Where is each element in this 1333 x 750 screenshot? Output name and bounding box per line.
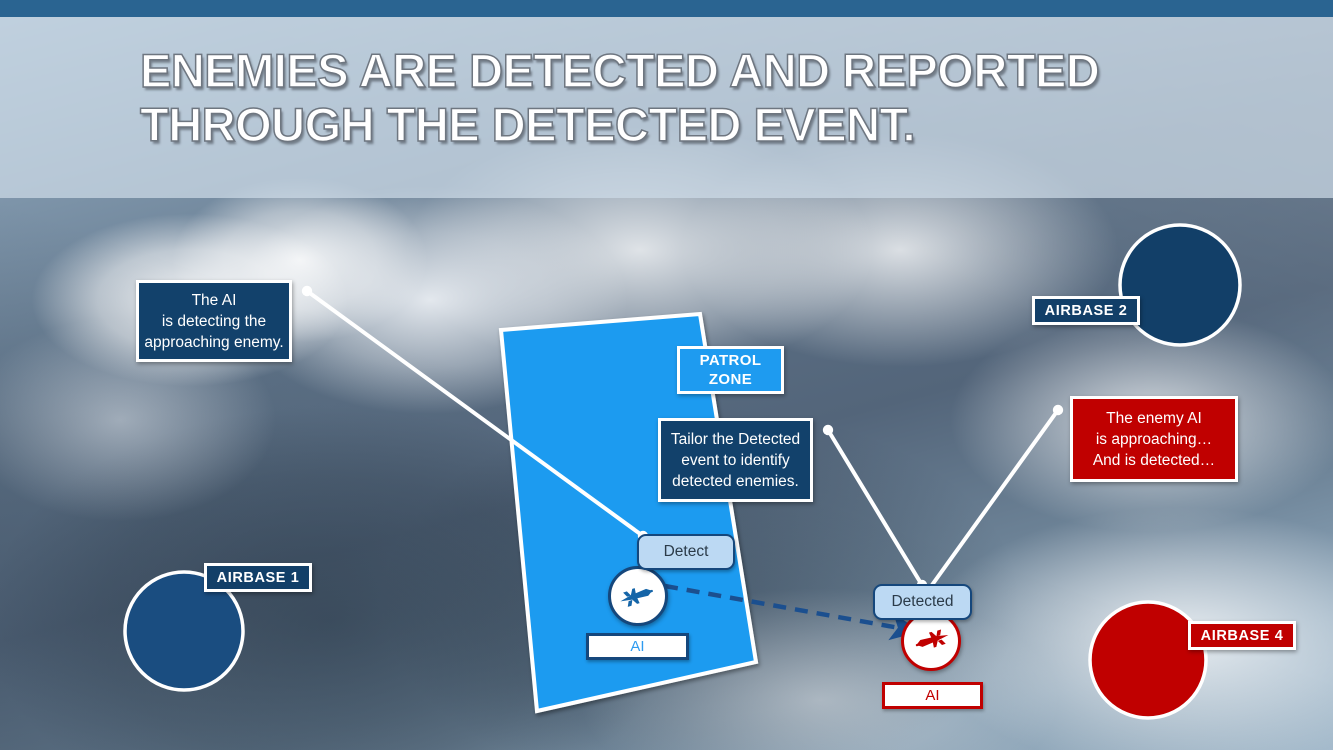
callout-line: event to identify	[681, 450, 790, 471]
friendly-jet-badge[interactable]	[608, 566, 668, 626]
airbase-label-text: AIRBASE 1	[217, 570, 300, 586]
callout-line: Tailor the Detected	[671, 429, 800, 450]
airbase-label-text: AIRBASE 4	[1201, 628, 1284, 644]
event-node-label: Detect	[664, 543, 709, 561]
callout-enemy-approaching[interactable]: The enemy AI is approaching… And is dete…	[1070, 396, 1238, 482]
airbase-4-label[interactable]: AIRBASE 4	[1188, 621, 1296, 650]
airbase-2-label[interactable]: AIRBASE 2	[1032, 296, 1140, 325]
callout-line: And is detected…	[1093, 450, 1215, 471]
connector-tailor-detected	[823, 425, 927, 590]
slide-canvas: ENEMIES ARE DETECTED AND REPORTED THROUG…	[0, 0, 1333, 750]
connector-enemy-approaching	[932, 405, 1063, 585]
callout-ai-detecting[interactable]: The AI is detecting the approaching enem…	[136, 280, 292, 362]
patrol-zone-label-line2: ZONE	[709, 370, 752, 389]
callout-line: The AI	[192, 290, 237, 311]
ai-tag-enemy[interactable]: AI	[882, 682, 983, 709]
patrol-zone-label[interactable]: PATROL ZONE	[677, 346, 784, 394]
callout-line: is approaching…	[1096, 429, 1212, 450]
enemy-jet-badge[interactable]	[901, 611, 961, 671]
callout-line: is detecting the	[162, 311, 266, 332]
airbase-2-circle[interactable]	[1120, 225, 1240, 345]
callout-line: approaching enemy.	[144, 332, 283, 353]
callout-tailor-detected-event[interactable]: Tailor the Detected event to identify de…	[658, 418, 813, 502]
ai-tag-label: AI	[925, 687, 939, 704]
event-node-label: Detected	[891, 593, 953, 611]
callout-line: The enemy AI	[1106, 408, 1202, 429]
airbase-label-text: AIRBASE 2	[1045, 303, 1128, 319]
patrol-zone-label-line1: PATROL	[700, 351, 762, 370]
airbase-1-label[interactable]: AIRBASE 1	[204, 563, 312, 592]
callout-line: detected enemies.	[672, 471, 799, 492]
event-node-detected[interactable]: Detected	[873, 584, 972, 620]
event-node-detect[interactable]: Detect	[637, 534, 735, 570]
airbase-4-circle[interactable]	[1090, 602, 1206, 718]
ai-tag-friendly[interactable]: AI	[586, 633, 689, 660]
fighter-jet-icon	[617, 575, 659, 617]
ai-tag-label: AI	[630, 638, 644, 655]
fighter-jet-icon	[910, 620, 952, 662]
